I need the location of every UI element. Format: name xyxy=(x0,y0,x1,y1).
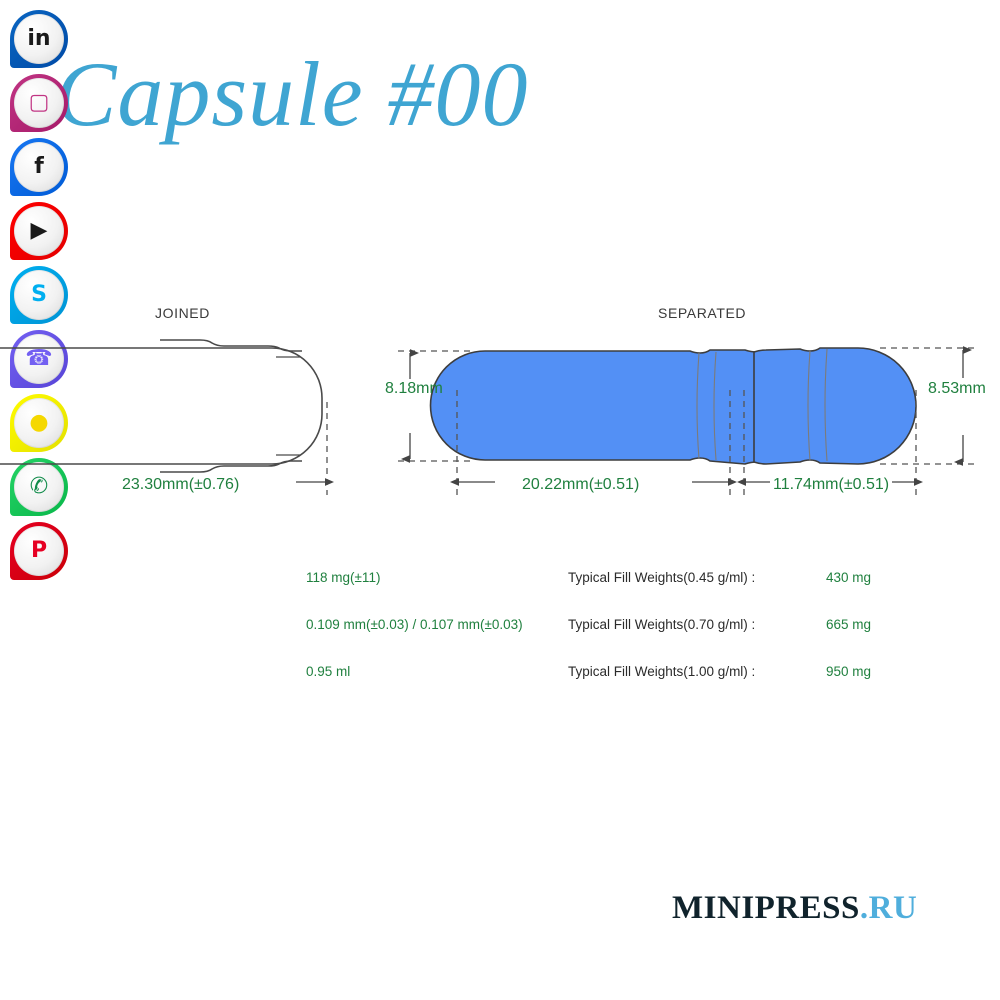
linkedin-icon: in xyxy=(10,10,68,68)
social-glyph: f xyxy=(34,156,44,178)
social-share-linkedin[interactable]: in xyxy=(10,10,72,74)
spec-value: 118 mg(±11) xyxy=(306,570,380,585)
spec-value: 0.95 ml xyxy=(306,664,350,679)
body-height-value: 8.18mm xyxy=(385,380,443,398)
capsule-diagram: JOINED SEPARATED xyxy=(0,280,1000,540)
social-badge-disc: ▶ xyxy=(14,206,64,256)
body-length-value: 20.22mm(±0.51) xyxy=(522,476,639,494)
page-title: Capsule #00 xyxy=(55,48,529,140)
separated-body-shape xyxy=(430,350,757,464)
specifications: Average Weight : 118 mg(±11) Single wall… xyxy=(0,570,1000,710)
social-glyph: ▢ xyxy=(29,92,50,114)
facebook-icon: f xyxy=(10,138,68,196)
social-share-instagram[interactable]: ▢ xyxy=(10,74,72,138)
joined-length-value: 23.30mm(±0.76) xyxy=(122,476,239,494)
spec-value: 665 mg xyxy=(826,617,871,632)
capsule-drawing-svg xyxy=(0,280,1000,540)
spec-label: Typical Fill Weights(1.00 g/ml) : xyxy=(568,664,755,679)
cap-height-value: 8.53mm xyxy=(928,380,986,398)
spec-label: Typical Fill Weights(0.70 g/ml) : xyxy=(568,617,755,632)
youtube-icon: ▶ xyxy=(10,202,68,260)
spec-value: 950 mg xyxy=(826,664,871,679)
social-share-youtube[interactable]: ▶ xyxy=(10,202,72,266)
logo-main-text: MINIPRESS xyxy=(672,890,860,926)
spec-label: Typical Fill Weights(0.45 g/ml) : xyxy=(568,570,755,585)
capsule-spec-page: Capsule #00 in▢f▶S☎●✆P JOINED SEPARATED xyxy=(0,0,1000,1000)
social-glyph: ▶ xyxy=(31,220,48,242)
spec-value: 430 mg xyxy=(826,570,871,585)
cap-length-value: 11.74mm(±0.51) xyxy=(773,476,889,494)
joined-capsule-outline xyxy=(0,340,322,472)
social-badge-disc: in xyxy=(14,14,64,64)
logo-tld-text: .RU xyxy=(860,890,917,926)
minipress-logo: MINIPRESS.RU xyxy=(672,890,917,927)
separated-cap-shape xyxy=(754,348,916,464)
social-share-facebook[interactable]: f xyxy=(10,138,72,202)
spec-value: 0.109 mm(±0.03) / 0.107 mm(±0.03) xyxy=(306,617,523,632)
social-glyph: P xyxy=(31,540,47,562)
social-glyph: in xyxy=(27,28,50,50)
social-badge-disc: ▢ xyxy=(14,78,64,128)
social-badge-disc: f xyxy=(14,142,64,192)
instagram-icon: ▢ xyxy=(10,74,68,132)
